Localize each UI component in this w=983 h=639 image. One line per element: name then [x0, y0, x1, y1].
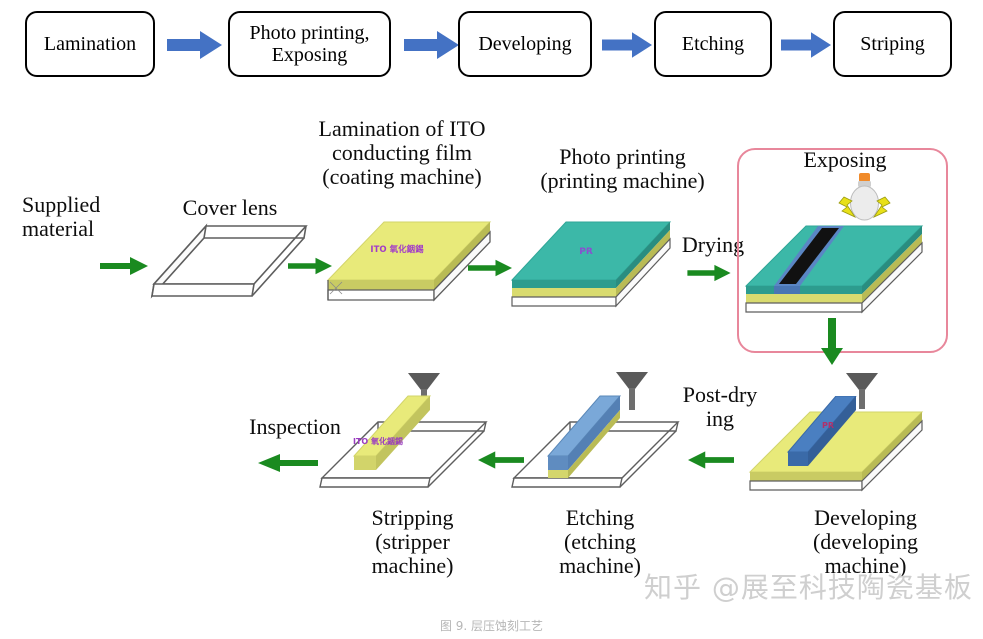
- flow-step-label: Developing: [478, 33, 571, 55]
- slab-label-pr-developing: PR: [822, 421, 834, 430]
- flow-arrow-1: [167, 31, 222, 59]
- flow-step-etching[interactable]: Etching: [654, 11, 772, 77]
- slab-label-ito: ITO 氧化銦錫: [370, 244, 424, 255]
- green-arrow-left-3: [258, 452, 318, 474]
- label-lamination-ito: Lamination of ITO conducting film (coati…: [284, 117, 520, 190]
- slab-photoresist: PR: [508, 218, 678, 313]
- slab-label-pr: PR: [579, 247, 593, 257]
- flow-arrow-3: [602, 31, 652, 59]
- label-photo-printing: Photo printing (printing machine): [505, 145, 740, 193]
- label-supplied-material: Supplied material: [22, 193, 142, 241]
- label-exposing: Exposing: [760, 148, 930, 172]
- flow-step-label: Etching: [682, 33, 744, 55]
- flow-step-label: Striping: [860, 33, 924, 55]
- flow-step-striping[interactable]: Striping: [833, 11, 952, 77]
- diagram-root: Lamination Photo printing, Exposing Deve…: [0, 0, 983, 639]
- green-arrow-down-1: [820, 318, 844, 366]
- flow-arrow-2: [404, 31, 459, 59]
- slab-stripping: ITO 氧化銦錫: [318, 394, 498, 494]
- label-stripping: Stripping (stripper machine): [320, 506, 505, 579]
- slab-exposing: [744, 222, 934, 320]
- label-cover-lens: Cover lens: [155, 196, 305, 220]
- flow-step-developing[interactable]: Developing: [458, 11, 592, 77]
- flow-step-label: Lamination: [44, 33, 136, 55]
- flow-step-lamination[interactable]: Lamination: [25, 11, 155, 77]
- figure-caption: 图 9. 层压蚀刻工艺: [0, 617, 983, 634]
- green-arrow-right-3: [468, 258, 512, 278]
- label-inspection: Inspection: [215, 415, 375, 439]
- slab-etching: [508, 394, 688, 494]
- watermark: 知乎 @展至科技陶瓷基板: [644, 566, 973, 606]
- flow-arrow-4: [781, 31, 831, 59]
- green-arrow-right-1: [100, 256, 148, 276]
- green-arrow-left-1: [688, 450, 734, 470]
- green-arrow-right-4: [687, 264, 731, 282]
- flow-step-photo-printing-exposing[interactable]: Photo printing, Exposing: [228, 11, 391, 77]
- flow-step-label: Photo printing, Exposing: [234, 22, 385, 67]
